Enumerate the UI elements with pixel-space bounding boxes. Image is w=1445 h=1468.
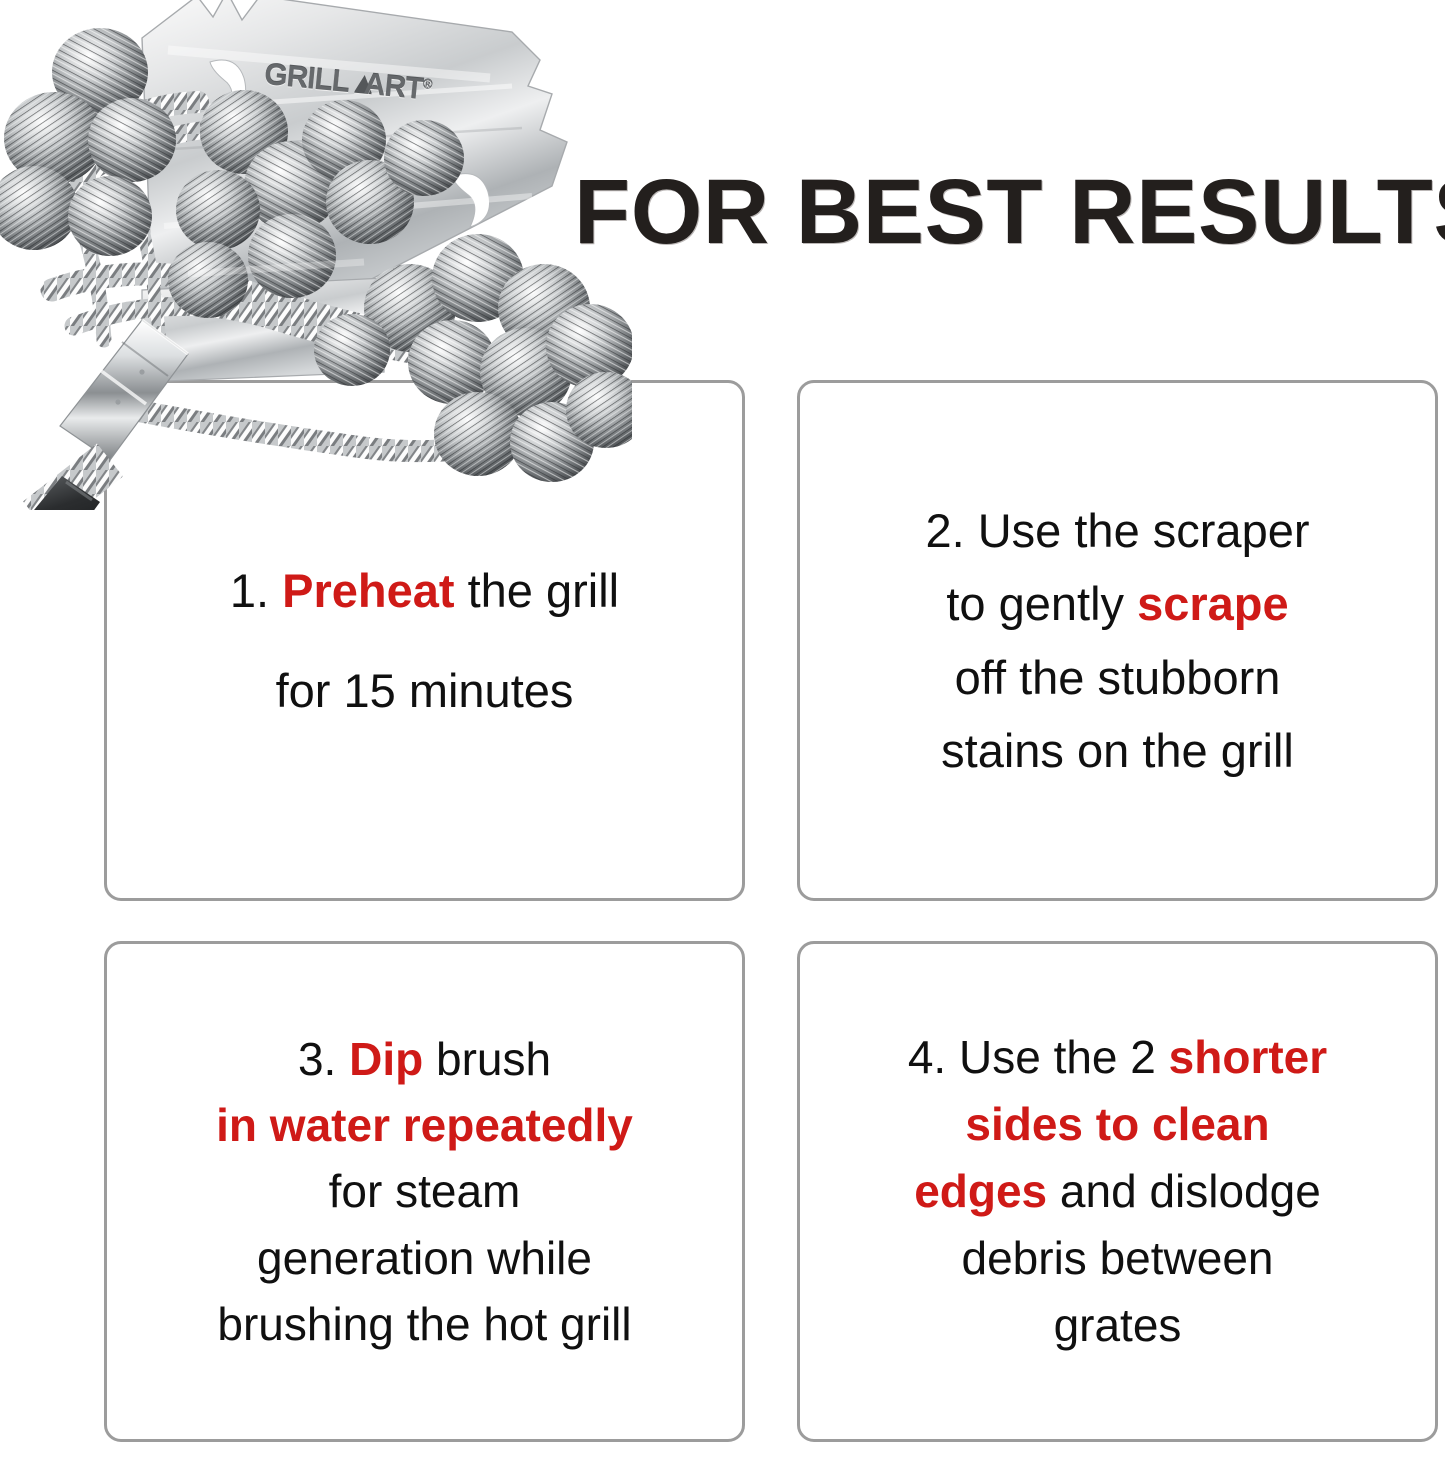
instruction-line: 1. Preheat the grill — [230, 541, 619, 641]
instruction-line: 3. Dip brush — [216, 1026, 633, 1092]
instruction-text: brush — [423, 1033, 551, 1085]
highlighted-keyword: shorter — [1169, 1031, 1327, 1083]
instruction-text: 3. — [298, 1033, 349, 1085]
instruction-line: 2. Use the scraper — [925, 494, 1309, 567]
instruction-text: stains on the grill — [941, 724, 1294, 777]
scraper-blade-shape — [142, 0, 567, 382]
instruction-line: sides to clean — [908, 1091, 1327, 1158]
instruction-line: 4. Use the 2 shorter — [908, 1024, 1327, 1091]
brand-logo-grillart: GRILL▲ART® — [263, 58, 434, 108]
instruction-card-2: 2. Use the scraperto gently scrapeoff th… — [797, 380, 1438, 901]
highlighted-keyword: Dip — [349, 1033, 423, 1085]
instruction-card-2-text: 2. Use the scraperto gently scrapeoff th… — [925, 494, 1309, 787]
instruction-text: off the stubborn — [955, 651, 1281, 704]
instruction-line: grates — [908, 1292, 1327, 1359]
instruction-text: the grill — [455, 564, 620, 617]
instruction-text: generation while — [257, 1232, 592, 1284]
highlighted-keyword: edges — [914, 1165, 1047, 1217]
highlighted-keyword: sides to clean — [965, 1098, 1269, 1150]
instruction-line: off the stubborn — [925, 641, 1309, 714]
instruction-card-grid: 1. Preheat the grillfor 15 minutes 2. Us… — [104, 380, 1438, 1442]
registered-trademark-icon: ® — [422, 76, 433, 92]
instruction-text: 2. Use the scraper — [925, 504, 1309, 557]
instruction-text: to gently — [946, 577, 1137, 630]
instruction-text: debris between — [962, 1232, 1274, 1284]
highlighted-keyword: scrape — [1137, 577, 1289, 630]
instruction-line: for steam — [216, 1158, 633, 1224]
brand-logo-text-part2: ART — [362, 68, 424, 106]
page-title: FOR BEST RESULTS: — [574, 166, 1445, 258]
instruction-text: 1. — [230, 564, 282, 617]
instruction-card-1: 1. Preheat the grillfor 15 minutes — [104, 380, 745, 901]
instruction-text: for 15 minutes — [276, 664, 574, 717]
instruction-line: stains on the grill — [925, 714, 1309, 787]
instruction-text: 4. Use the 2 — [908, 1031, 1169, 1083]
instruction-text: grates — [1054, 1299, 1182, 1351]
instruction-line: debris between — [908, 1225, 1327, 1292]
instruction-line: generation while — [216, 1225, 633, 1291]
instruction-line: in water repeatedly — [216, 1092, 633, 1158]
instruction-text: and dislodge — [1047, 1165, 1321, 1217]
instruction-line: edges and dislodge — [908, 1158, 1327, 1225]
instruction-line: for 15 minutes — [230, 641, 619, 741]
instruction-line: brushing the hot grill — [216, 1291, 633, 1357]
instruction-card-4: 4. Use the 2 shortersides to cleanedges … — [797, 941, 1438, 1442]
instruction-line: to gently scrape — [925, 567, 1309, 640]
instruction-card-3-text: 3. Dip brushin water repeatedlyfor steam… — [216, 1026, 633, 1357]
instruction-card-4-text: 4. Use the 2 shortersides to cleanedges … — [908, 1024, 1327, 1360]
instruction-text: brushing the hot grill — [217, 1298, 631, 1350]
brand-logo-text-part1: GRILL — [263, 58, 351, 99]
instruction-text: for steam — [329, 1165, 521, 1217]
instruction-card-1-text: 1. Preheat the grillfor 15 minutes — [230, 541, 619, 740]
instruction-card-3: 3. Dip brushin water repeatedlyfor steam… — [104, 941, 745, 1442]
highlighted-keyword: in water repeatedly — [216, 1099, 633, 1151]
highlighted-keyword: Preheat — [282, 564, 454, 617]
